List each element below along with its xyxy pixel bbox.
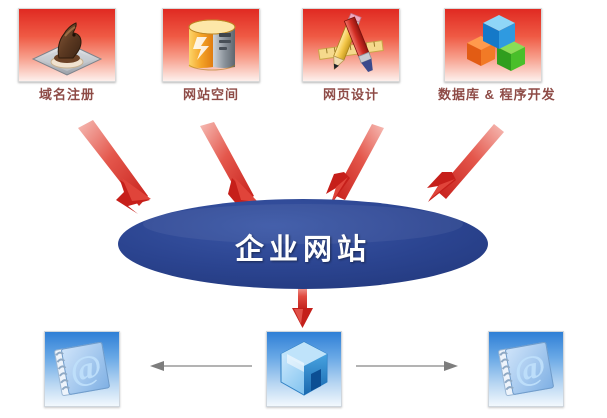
at-notebook-icon: @ <box>45 332 119 406</box>
chess-knight-icon <box>19 9 115 81</box>
arrow-home-to-right-mail <box>356 361 458 371</box>
output-icon-frame: @ <box>488 331 564 407</box>
service-icon-frame <box>302 8 400 82</box>
service-card-web-hosting[interactable]: 网站空间 <box>156 8 266 102</box>
output-icon-frame: @ <box>44 331 120 407</box>
service-icon-frame <box>162 8 260 82</box>
blue-house-icon <box>267 332 341 406</box>
service-card-domain-registration[interactable]: 域名注册 <box>12 8 122 102</box>
output-card-email-left[interactable]: @ <box>44 331 120 407</box>
service-icon-frame <box>18 8 116 82</box>
at-notebook-icon: @ <box>489 332 563 406</box>
service-label: 域名注册 <box>12 88 122 102</box>
service-label: 网页设计 <box>296 88 406 102</box>
output-card-email-right[interactable]: @ <box>488 331 564 407</box>
colored-cubes-icon <box>445 9 541 81</box>
database-server-icon <box>163 9 259 81</box>
service-label: 数据库 & 程序开发 <box>438 88 548 102</box>
diagram-canvas: 域名注册 <box>0 0 607 418</box>
service-card-web-design[interactable]: 网页设计 <box>296 8 406 102</box>
service-label: 网站空间 <box>156 88 266 102</box>
svg-text:@: @ <box>67 348 105 390</box>
service-card-database-development[interactable]: 数据库 & 程序开发 <box>438 8 548 102</box>
arrow-database-to-hub <box>427 124 504 202</box>
pencil-brush-icon <box>303 9 399 81</box>
arrow-design-to-hub <box>326 124 384 206</box>
hub-ellipse-shape <box>117 198 489 290</box>
output-card-website-home[interactable] <box>266 331 342 407</box>
arrow-home-to-left-mail <box>150 361 252 371</box>
output-icon-frame <box>266 331 342 407</box>
service-icon-frame <box>444 8 542 82</box>
svg-text:@: @ <box>511 348 549 390</box>
hub-enterprise-website[interactable]: 企业网站 <box>117 198 489 295</box>
